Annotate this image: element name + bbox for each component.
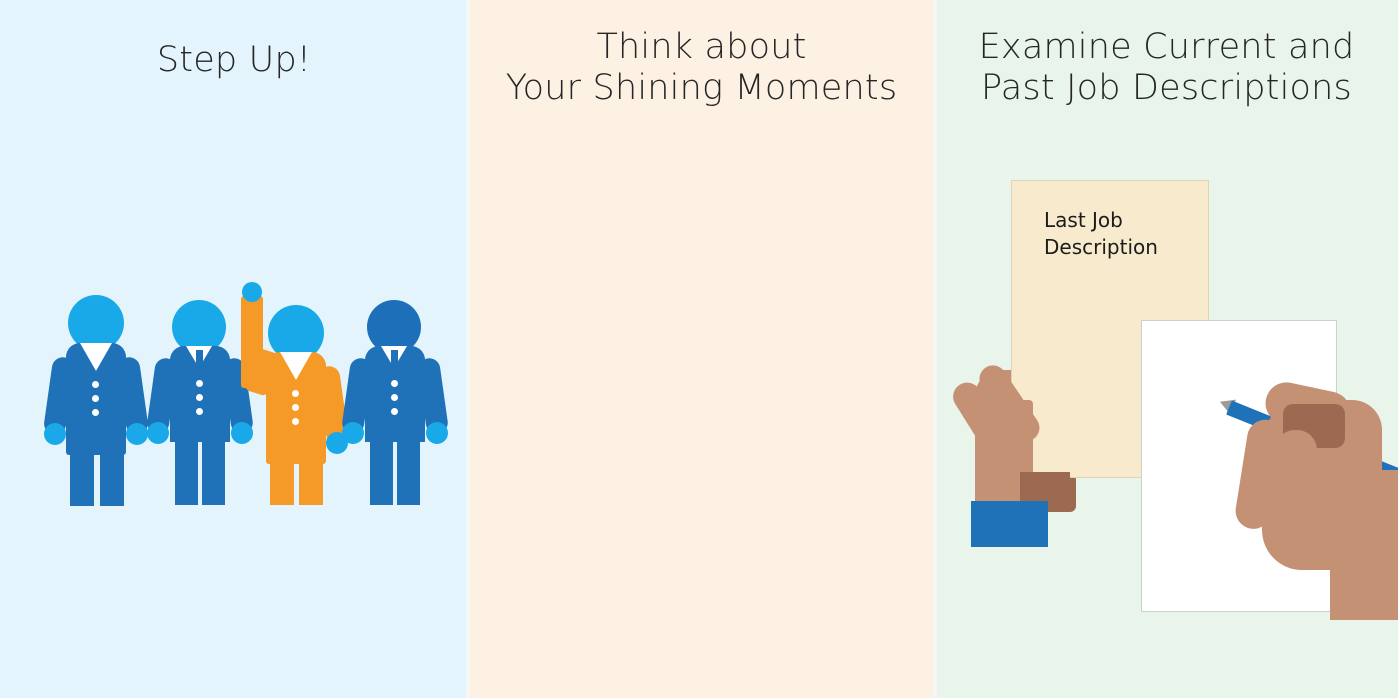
person-3-button — [292, 418, 299, 425]
person-4-leg-right — [397, 440, 420, 505]
figure-person-4 — [345, 300, 445, 505]
panel-title-job-descriptions: Examine Current and Past Job Description… — [935, 27, 1398, 110]
person-2-button — [196, 408, 203, 415]
infographic-board: Step Up! — [0, 0, 1398, 698]
person-2-button — [196, 380, 203, 387]
person-4-hand-right — [426, 422, 448, 444]
person-4-button — [391, 394, 398, 401]
person-3-leg-right — [299, 460, 323, 505]
person-3-collar — [280, 352, 312, 380]
panel-divider-2 — [933, 0, 937, 698]
person-2-leg-left — [175, 440, 198, 505]
person-3-button — [292, 404, 299, 411]
person-4-hand-left — [342, 422, 364, 444]
panel-divider-1 — [466, 0, 470, 698]
person-2-button — [196, 394, 203, 401]
person-2-hand-left — [147, 422, 169, 444]
person-3-leg-left — [270, 460, 294, 505]
panel-shining-moments: Think about Your Shining Moments — [468, 0, 935, 698]
person-1-hand-right — [126, 423, 148, 445]
person-2-leg-right — [202, 440, 225, 505]
panel-job-descriptions: Examine Current and Past Job Description… — [935, 0, 1398, 698]
figure-person-1 — [46, 295, 146, 505]
person-4-button — [391, 408, 398, 415]
person-4-button — [391, 380, 398, 387]
person-1-button — [92, 381, 99, 388]
person-1-hand-left — [44, 423, 66, 445]
person-1-leg-left — [70, 450, 94, 506]
panel-step-up: Step Up! — [0, 0, 468, 698]
person-1-leg-right — [100, 450, 124, 506]
person-1-collar — [80, 343, 112, 371]
figure-person-3-raising-hand — [238, 280, 344, 505]
person-4-leg-left — [370, 440, 393, 505]
person-2-tie — [196, 350, 203, 374]
person-3-button — [292, 390, 299, 397]
person-1-button — [92, 409, 99, 416]
panel-title-shining-moments: Think about Your Shining Moments — [468, 27, 935, 110]
person-1-button — [92, 395, 99, 402]
person-4-tie — [391, 350, 398, 374]
figure-person-2 — [150, 300, 250, 505]
panel-title-step-up: Step Up! — [0, 40, 468, 81]
person-3-hand-raised — [242, 282, 262, 302]
